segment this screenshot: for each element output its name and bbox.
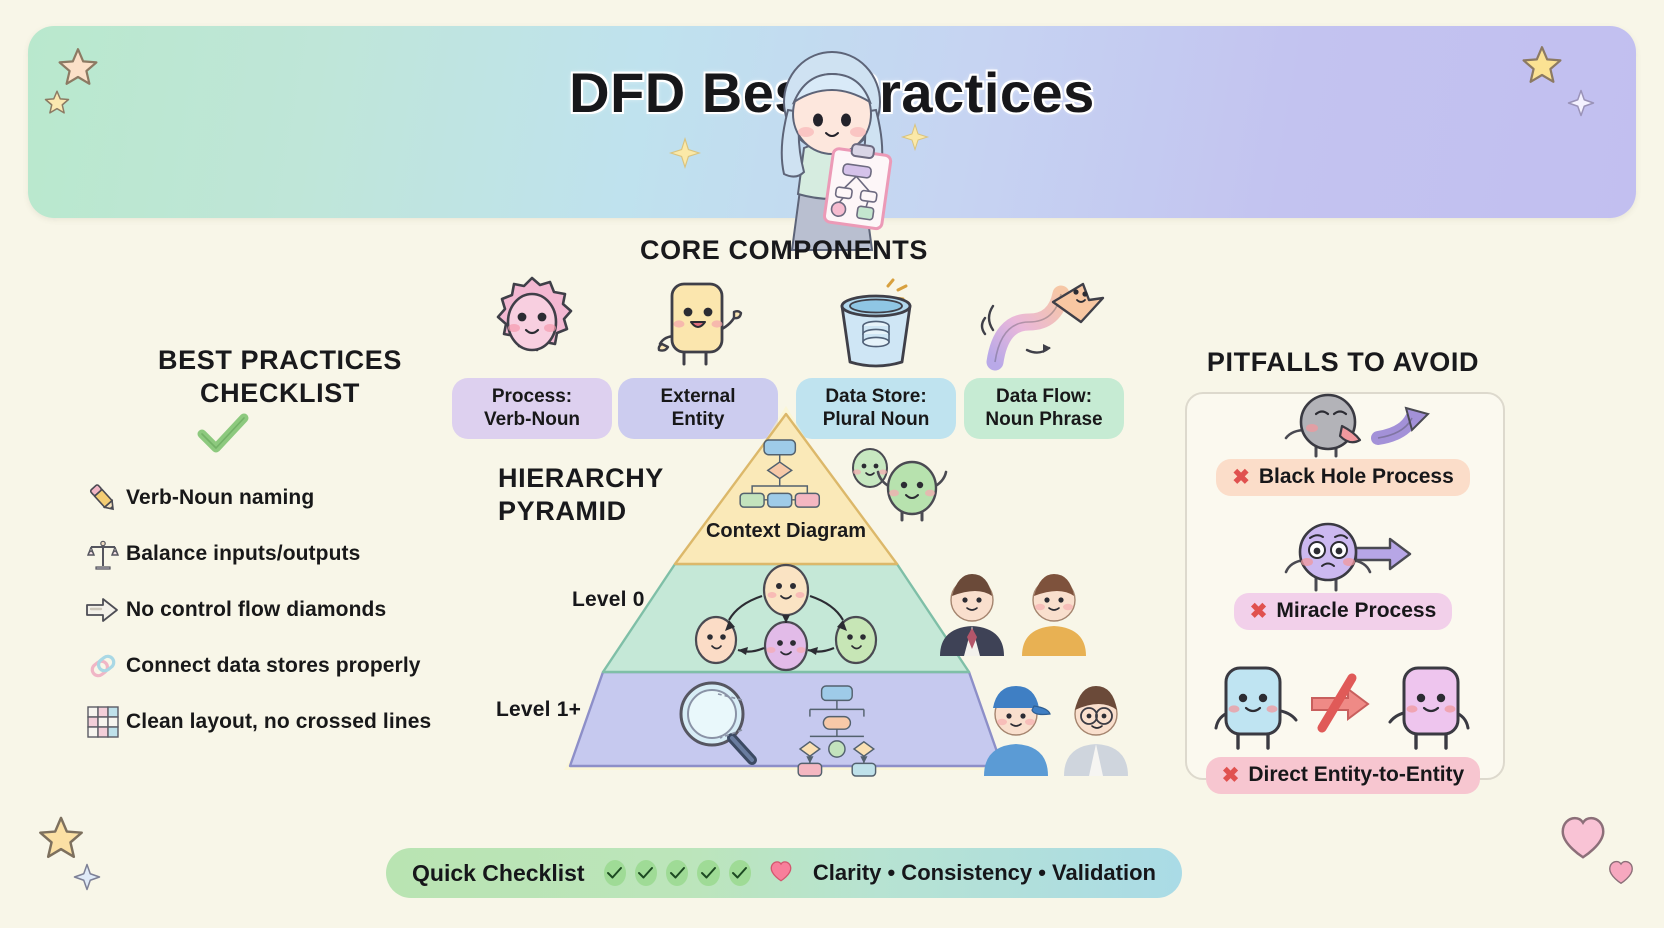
pitfall-label-pill: ✖ Black Hole Process [1216, 459, 1470, 496]
pencil-icon [80, 478, 126, 518]
two-entities-blocked-arrow-icon [1198, 658, 1488, 758]
quick-checklist-bar: Quick Checklist Clarity • Consistency • … [386, 848, 1182, 898]
grid-icon [80, 702, 126, 742]
best-practices-checklist: Verb-Noun naming Balance inputs/outputs [80, 470, 480, 750]
pyramid-level1-label: Level 1+ [496, 698, 581, 722]
list-item[interactable]: Verb-Noun naming [80, 470, 480, 526]
pink-heart-icon [1556, 812, 1610, 862]
sparkle-icon [668, 136, 702, 170]
purple-blob-emitting-arrow-icon [1250, 520, 1436, 592]
list-item-label: Connect data stores properly [126, 654, 421, 678]
pyramid-level0-label: Level 0 [572, 588, 645, 612]
pitfalls-heading: PITFALLS TO AVOID [1185, 346, 1501, 379]
heart-icon [768, 859, 794, 888]
list-item[interactable]: No control flow diamonds [80, 582, 480, 638]
list-item[interactable]: Connect data stores properly [80, 638, 480, 694]
pitfall-direct-entity[interactable]: ✖ Direct Entity-to-Entity [1185, 658, 1501, 794]
flowing-arrow-icon [964, 272, 1124, 372]
blue-diamond-icon [72, 862, 102, 892]
list-item-label: Balance inputs/outputs [126, 542, 360, 566]
people-pair-adults-icon [932, 556, 1098, 656]
mascot-girl-with-clipboard-icon [742, 40, 922, 252]
x-icon: ✖ [1222, 765, 1240, 786]
bucket-database-icon [796, 272, 956, 372]
small-pink-heart-icon [1606, 858, 1636, 886]
list-item[interactable]: Clean layout, no crossed lines [80, 694, 480, 750]
list-item-label: Clean layout, no crossed lines [126, 710, 431, 734]
pitfall-black-hole[interactable]: ✖ Black Hole Process [1185, 392, 1501, 496]
pitfall-label: Black Hole Process [1259, 465, 1454, 489]
checklist-heading-line2: CHECKLIST [80, 377, 480, 410]
quick-checklist-tail: Clarity • Consistency • Validation [813, 860, 1156, 886]
check-icon [697, 860, 719, 886]
list-item[interactable]: Balance inputs/outputs [80, 526, 480, 582]
list-item-label: Verb-Noun naming [126, 486, 314, 510]
check-icon [666, 860, 688, 886]
pitfall-label-pill: ✖ Miracle Process [1234, 593, 1453, 630]
link-icon [80, 646, 126, 686]
checklist-heading: BEST PRACTICES CHECKLIST [80, 344, 480, 410]
green-blob-characters-icon [844, 446, 954, 536]
gear-character-icon [452, 272, 612, 372]
arrow-icon [80, 590, 126, 630]
pitfall-miracle[interactable]: ✖ Miracle Process [1185, 520, 1501, 630]
quick-checklist-title: Quick Checklist [412, 860, 585, 887]
x-icon: ✖ [1250, 601, 1268, 622]
pitfall-label: Direct Entity-to-Entity [1248, 763, 1464, 787]
gray-blob-sucking-arrow-icon [1250, 392, 1436, 460]
pitfall-label-pill: ✖ Direct Entity-to-Entity [1206, 757, 1480, 794]
green-check-icon [196, 412, 250, 461]
poster-canvas: DFD Best Practices [0, 0, 1664, 928]
core-components-heading: CORE COMPONENTS [584, 234, 984, 267]
yellow-star-bl-icon [34, 812, 88, 866]
people-pair-kids-icon [976, 666, 1142, 776]
pitfall-label: Miracle Process [1276, 599, 1436, 623]
header-banner: DFD Best Practices [28, 26, 1636, 218]
check-icon [635, 860, 657, 886]
checklist-heading-line1: BEST PRACTICES [80, 344, 480, 377]
check-icon [729, 860, 751, 886]
check-icon [604, 860, 626, 886]
rounded-square-character-icon [618, 272, 778, 372]
x-icon: ✖ [1232, 467, 1250, 488]
scales-icon [80, 534, 126, 574]
list-item-label: No control flow diamonds [126, 598, 386, 622]
